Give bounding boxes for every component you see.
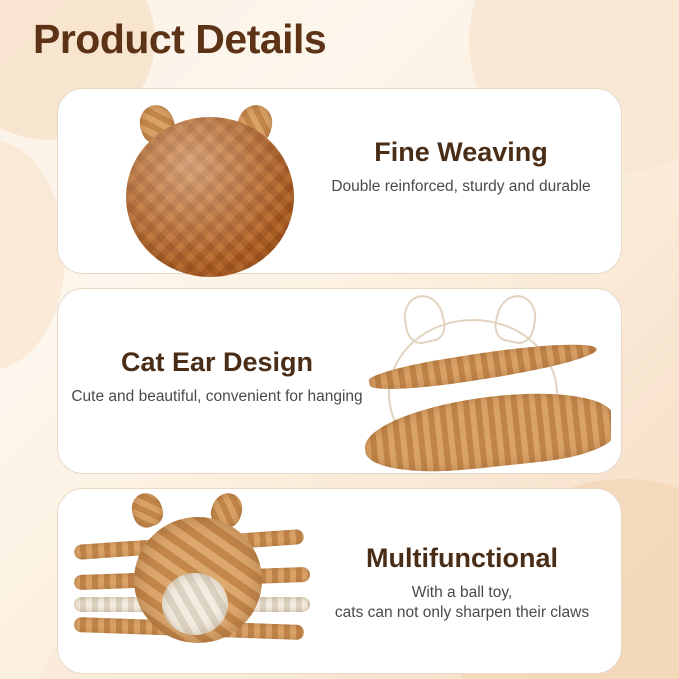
feature-text-fine-weaving: Fine Weaving Double reinforced, sturdy a… bbox=[296, 137, 626, 197]
cat-ear-left-icon bbox=[127, 489, 167, 531]
feature-subtext: Double reinforced, sturdy and durable bbox=[296, 177, 626, 197]
feature-heading: Fine Weaving bbox=[296, 137, 626, 168]
feature-card-cat-ear-design: Cat Ear Design Cute and beautiful, conve… bbox=[57, 288, 622, 474]
feature-subtext-line1: With a ball toy, bbox=[297, 583, 627, 603]
feature-card-multifunctional: Multifunctional With a ball toy, cats ca… bbox=[57, 488, 622, 674]
feature-card-fine-weaving: Fine Weaving Double reinforced, sturdy a… bbox=[57, 88, 622, 274]
page-title: Product Details bbox=[33, 16, 326, 63]
woven-mat-graphic bbox=[126, 117, 294, 277]
decorative-blob-left bbox=[0, 140, 65, 370]
feature-text-cat-ear-design: Cat Ear Design Cute and beautiful, conve… bbox=[52, 347, 382, 407]
rope-ball-white-core-graphic bbox=[162, 573, 228, 635]
product-details-page: Product Details Fine Weaving Double rein… bbox=[0, 0, 679, 679]
feature-heading: Multifunctional bbox=[297, 543, 627, 574]
feature-text-multifunctional: Multifunctional With a ball toy, cats ca… bbox=[297, 543, 627, 624]
feature-subtext: Cute and beautiful, convenient for hangi… bbox=[52, 387, 382, 407]
product-image-cat-ear-design bbox=[346, 279, 611, 484]
feature-heading: Cat Ear Design bbox=[52, 347, 382, 378]
feature-subtext-line2: cats can not only sharpen their claws bbox=[297, 603, 627, 623]
